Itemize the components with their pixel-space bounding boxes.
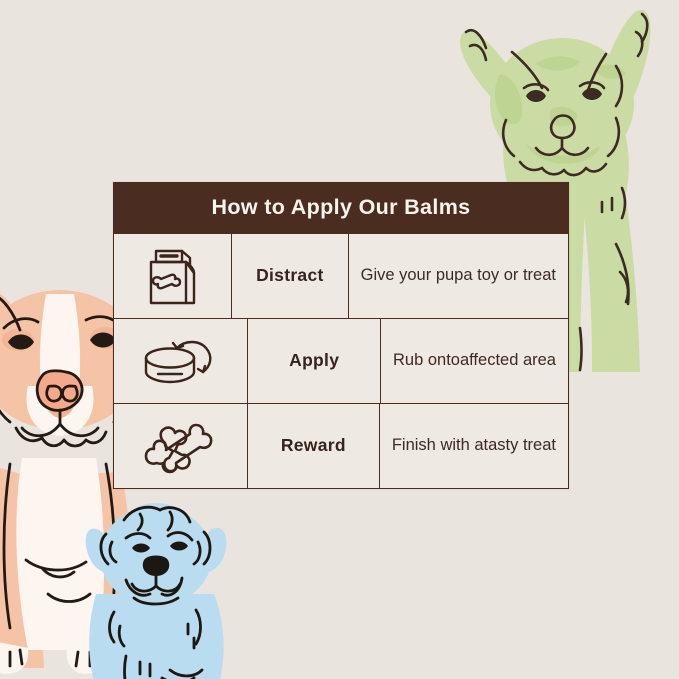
table-cell-step: Distract — [232, 234, 349, 318]
table-row: Distract Give your pup a toy or treat — [114, 234, 568, 318]
table-row: Apply Rub onto affected area — [114, 318, 568, 403]
table-cell-description: Finish with a tasty treat — [380, 404, 568, 488]
table-cell-icon — [114, 234, 232, 318]
table-body: Distract Give your pup a toy or treat — [114, 234, 568, 488]
table-cell-icon — [114, 404, 248, 488]
how-to-apply-table: How to Apply Our Balms — [113, 182, 569, 489]
balm-tin-icon — [143, 332, 219, 390]
table-cell-step: Reward — [248, 404, 380, 488]
table-row: Reward Finish with a tasty treat — [114, 403, 568, 488]
treat-bag-icon — [142, 243, 204, 309]
description-line: a toy or treat — [463, 264, 556, 287]
poster-canvas: How to Apply Our Balms — [0, 0, 679, 679]
description-line: Rub onto — [393, 349, 460, 372]
table-cell-description: Rub onto affected area — [381, 319, 568, 403]
description-line: affected area — [460, 349, 556, 372]
description-line: Give your pup — [361, 264, 464, 287]
description-line: Finish with a — [392, 434, 484, 457]
description-line: tasty treat — [484, 434, 556, 457]
table-title: How to Apply Our Balms — [114, 183, 568, 234]
crossed-bones-icon — [143, 415, 217, 477]
blue-dog-illustration — [78, 498, 248, 679]
table-cell-icon — [114, 319, 248, 403]
table-cell-description: Give your pup a toy or treat — [349, 234, 568, 318]
table-cell-step: Apply — [248, 319, 381, 403]
